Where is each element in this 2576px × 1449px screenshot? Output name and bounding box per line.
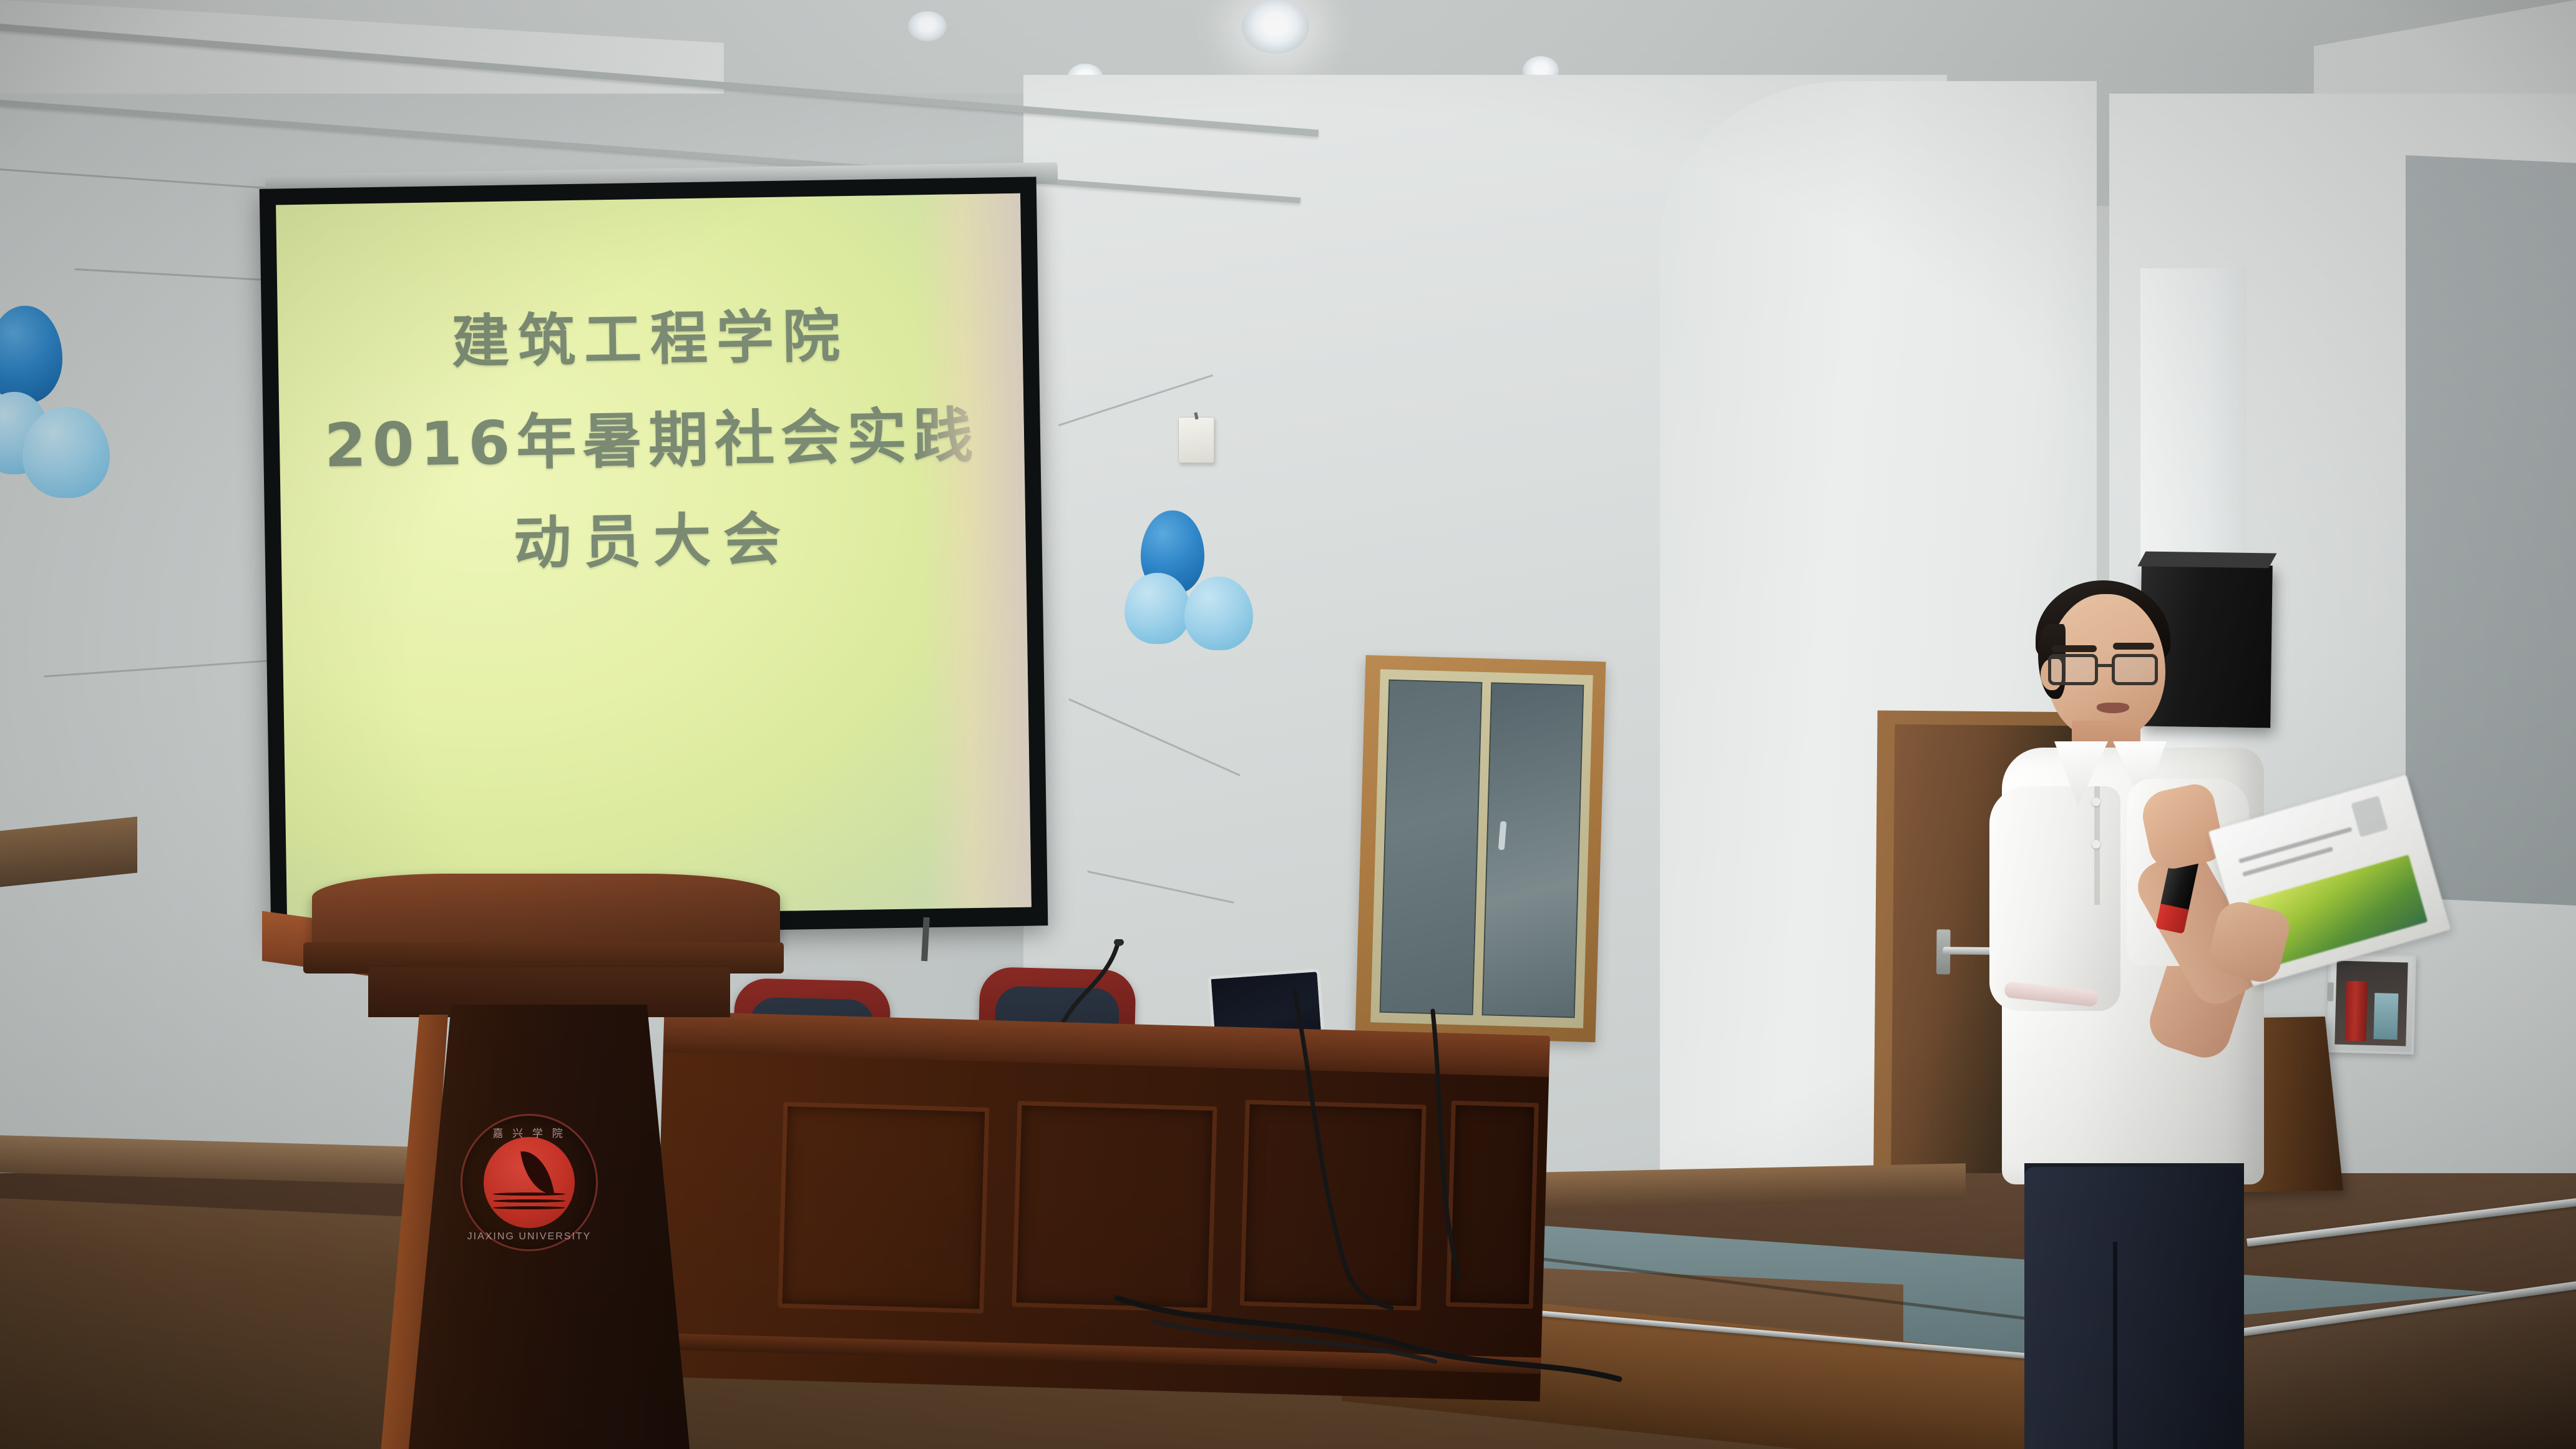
glasses-lens-right	[2112, 654, 2158, 685]
downlight-1	[908, 11, 947, 41]
shirt-button-2	[2092, 840, 2100, 849]
table-panel-2	[1012, 1101, 1217, 1312]
window-pane-left	[1380, 680, 1482, 1015]
cable-side-svg	[1286, 986, 1498, 1310]
trouser-inseam	[2113, 1242, 2117, 1449]
wall-junction-box	[1178, 417, 1214, 463]
projection-screen-surface: 建筑工程学院 2016年暑期社会实践 动员大会	[276, 193, 1032, 919]
downlight-2	[1242, 0, 1309, 54]
slide-line-3: 动员大会	[281, 489, 1027, 584]
table-side-cable	[1286, 986, 1498, 1310]
slide-text: 建筑工程学院 2016年暑期社会实践 动员大会	[277, 287, 1026, 584]
projection-screen-frame: 建筑工程学院 2016年暑期社会实践 动员大会	[260, 177, 1048, 937]
university-emblem: 嘉 兴 学 院 JIAXING UNIVERSITY	[461, 1114, 598, 1251]
cabinet-latch[interactable]	[2327, 982, 2334, 1001]
cabinet-label	[2374, 993, 2399, 1040]
fire-extinguisher-cabinet[interactable]	[2326, 952, 2416, 1055]
photo-scene: 建筑工程学院 2016年暑期社会实践 动员大会	[0, 0, 2576, 1449]
fire-extinguisher-icon	[2344, 981, 2368, 1042]
sleeve-left	[1989, 786, 2120, 1011]
table-panel-1	[778, 1102, 989, 1314]
eyebrow-right	[2113, 643, 2154, 650]
emblem-disc	[484, 1137, 575, 1228]
grey-wall-panel	[2406, 155, 2576, 906]
screen-glare	[914, 193, 1032, 909]
eyebrow-left	[2052, 645, 2097, 652]
window-sash	[1370, 669, 1593, 1028]
trousers	[2024, 1167, 2244, 1449]
speaker	[1978, 580, 2328, 1449]
podium-top-surface	[312, 874, 780, 947]
slide-line-1: 建筑工程学院	[277, 287, 1023, 382]
cabinet-glass	[2334, 961, 2408, 1046]
sliding-window[interactable]	[1355, 655, 1606, 1043]
balloon-light-blue-right-a	[1125, 573, 1191, 644]
waves-icon	[493, 1193, 566, 1214]
shirt-button-1	[2092, 798, 2100, 806]
balloon-light-blue-right-b	[1184, 577, 1253, 650]
window-glare	[1498, 821, 1507, 850]
sail-icon	[520, 1148, 554, 1198]
glasses-lens-left	[2048, 654, 2098, 685]
slide-line-2: 2016年暑期社会实践	[279, 386, 1025, 485]
balloon-light-blue-left-b	[22, 407, 110, 498]
microphone-red-band	[2155, 904, 2188, 934]
glasses-icon	[2048, 654, 2170, 688]
speaker-top-face	[2137, 552, 2276, 568]
window-pane-right	[1481, 682, 1584, 1018]
mouth	[2097, 703, 2129, 713]
podium: 嘉 兴 学 院 JIAXING UNIVERSITY	[262, 874, 780, 1449]
emblem-bottom-text: JIAXING UNIVERSITY	[462, 1231, 596, 1242]
